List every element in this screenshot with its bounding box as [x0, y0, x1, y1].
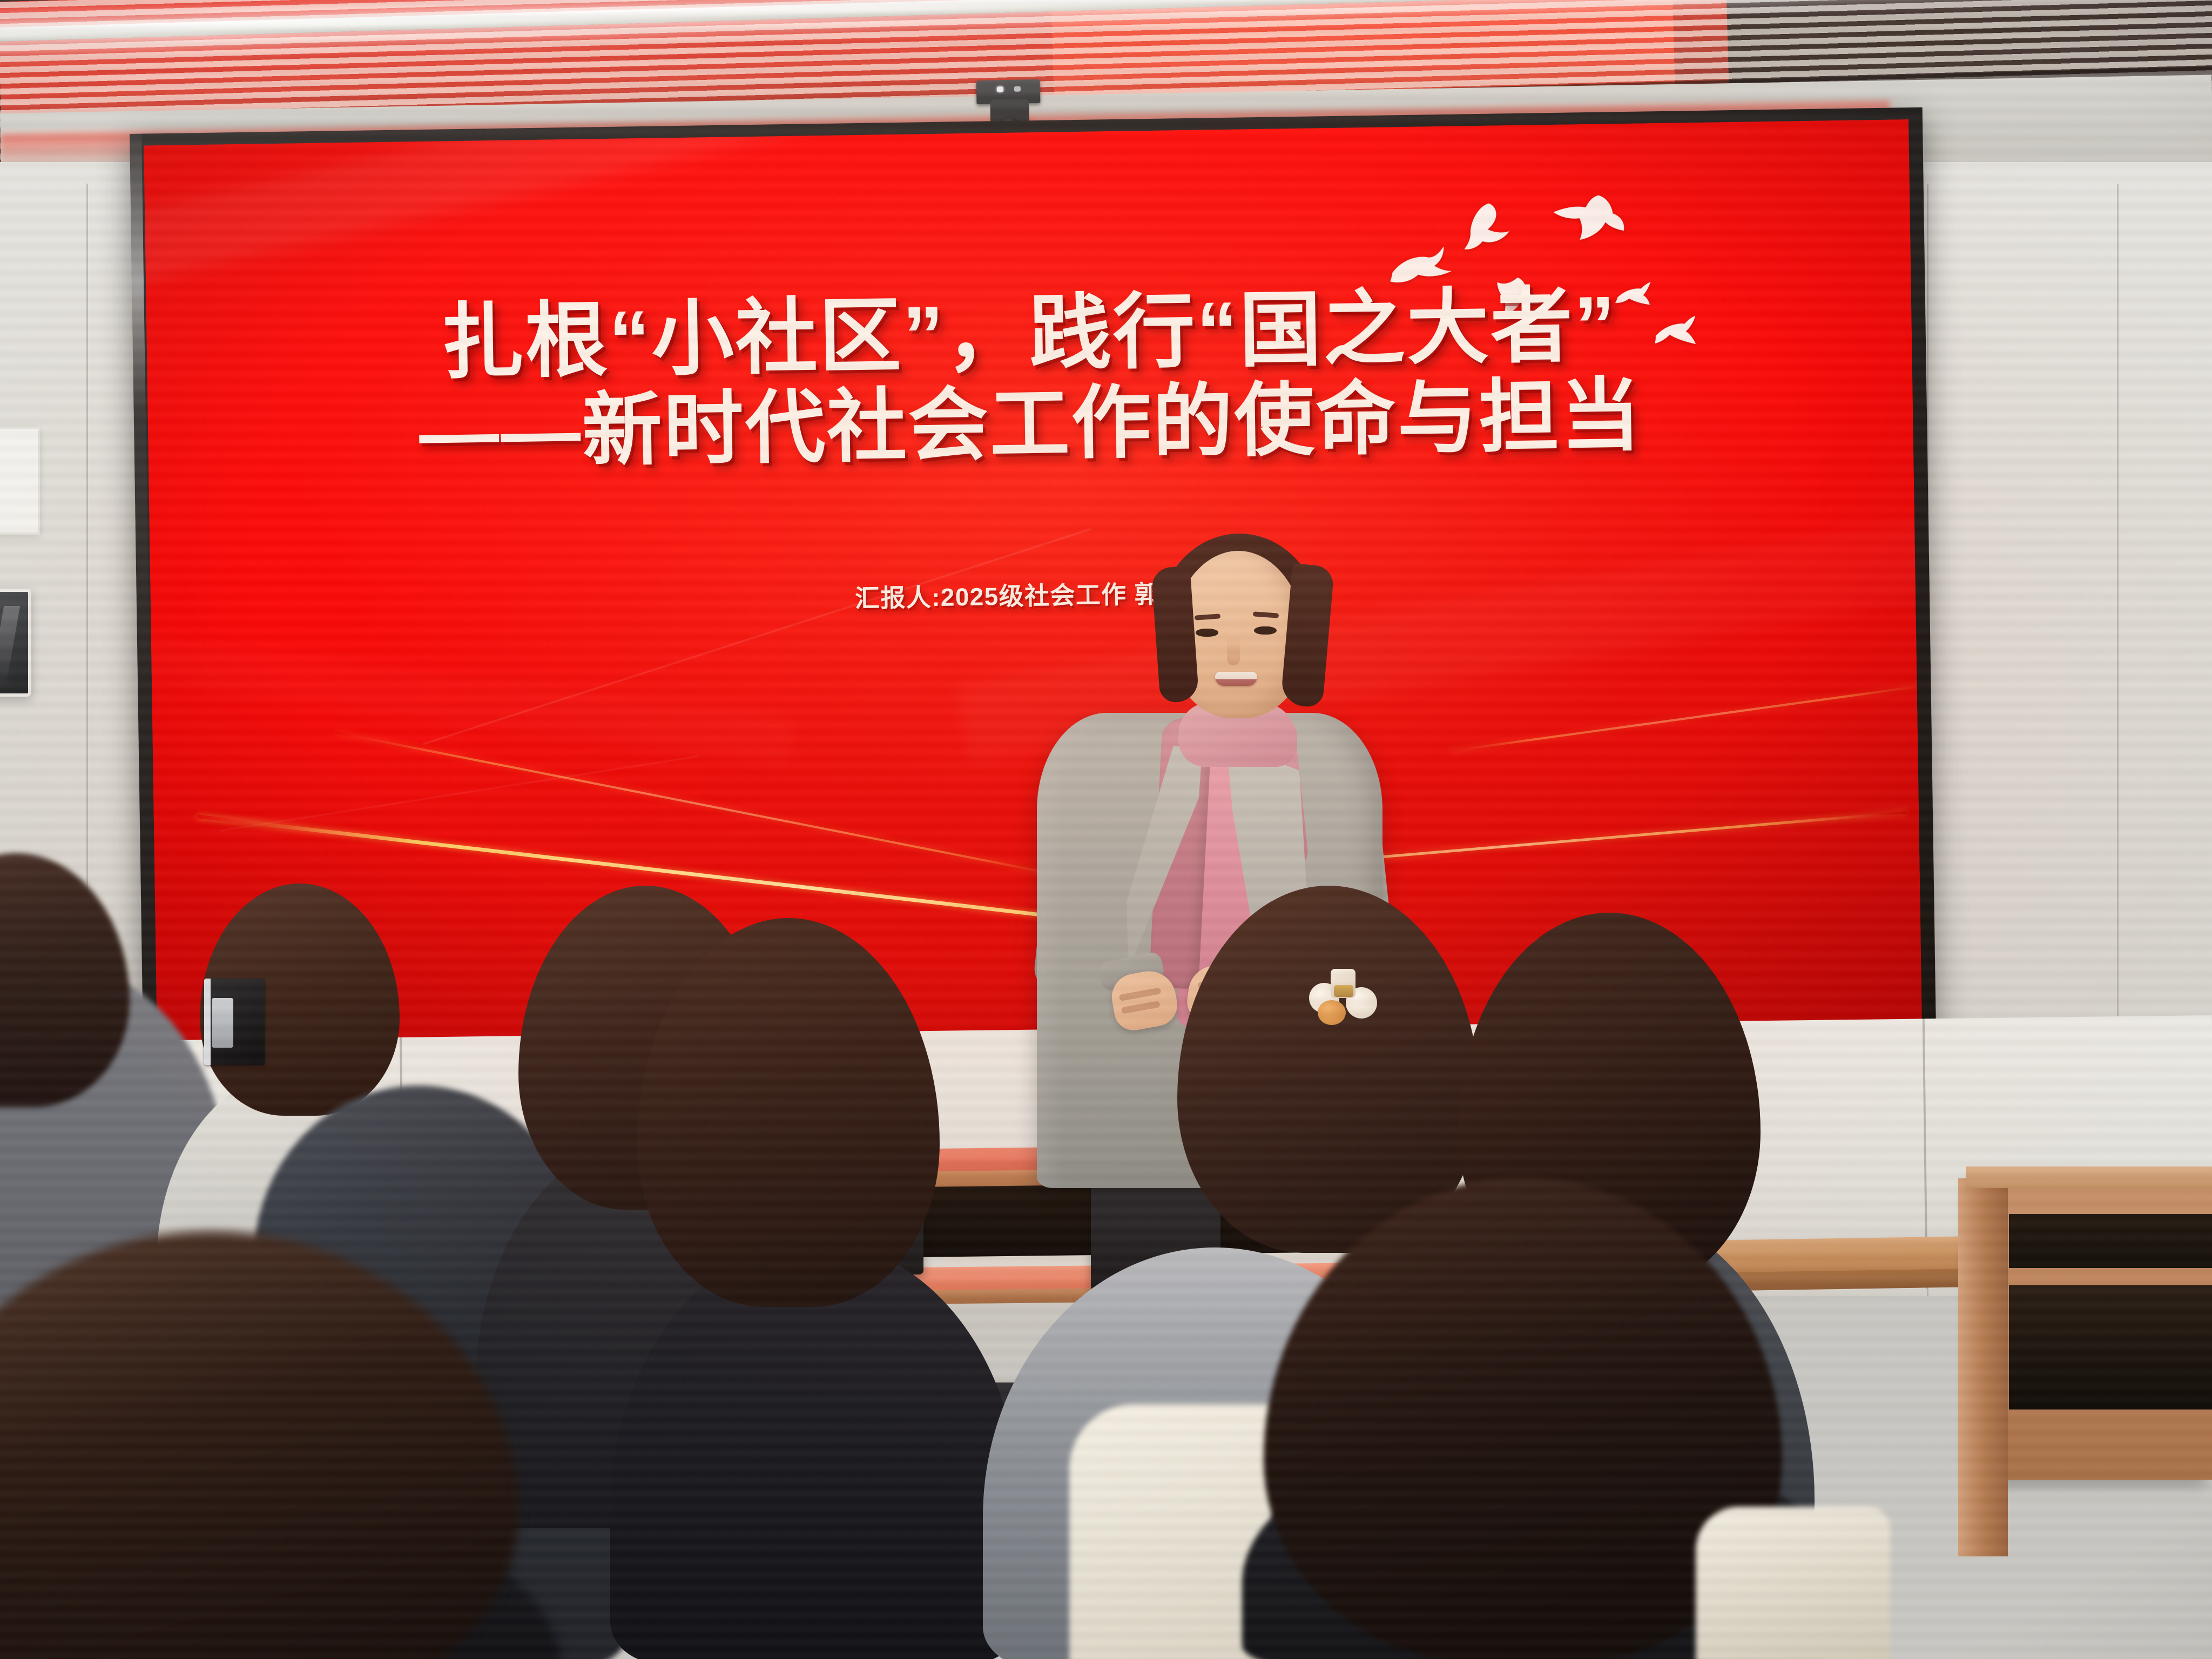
lecture-hall-scene: 扎根“小社区”，践行“国之大者” ——新时代社会工作的使命与担当 汇报人:202…	[0, 0, 2212, 1659]
led-video-wall-screen[interactable]: 扎根“小社区”，践行“国之大者” ——新时代社会工作的使命与担当 汇报人:202…	[144, 119, 1921, 1046]
wall-control-panel[interactable]	[0, 589, 31, 697]
camera-ir-led	[1014, 86, 1021, 92]
finger-line	[1121, 1001, 1161, 1014]
speaker-eye-left	[1196, 629, 1218, 637]
led-video-wall-bezel: 扎根“小社区”，践行“国之大者” ——新时代社会工作的使命与担当 汇报人:202…	[130, 107, 1936, 1068]
lectern-front-post	[1958, 1178, 2008, 1556]
speaker-eye-right	[1254, 626, 1277, 635]
hair-clip-highlight	[212, 998, 233, 1048]
finger-line	[1119, 988, 1162, 1001]
cream-fleece-coat-right	[1696, 1507, 1890, 1659]
camera-status-led	[997, 86, 1003, 92]
pearl-hair-clip-icon	[1306, 967, 1387, 1037]
speaker-mouth	[1215, 672, 1257, 686]
screen-vignette	[144, 119, 1921, 1046]
panel-screen-glare	[0, 606, 20, 687]
lectern-upper-shelf	[2009, 1214, 2212, 1268]
wall-notice-board	[0, 427, 40, 535]
lectern-top-surface	[1966, 1166, 2212, 1188]
lectern-lower-shelf	[2009, 1285, 2212, 1410]
speaker-nose	[1227, 637, 1240, 665]
